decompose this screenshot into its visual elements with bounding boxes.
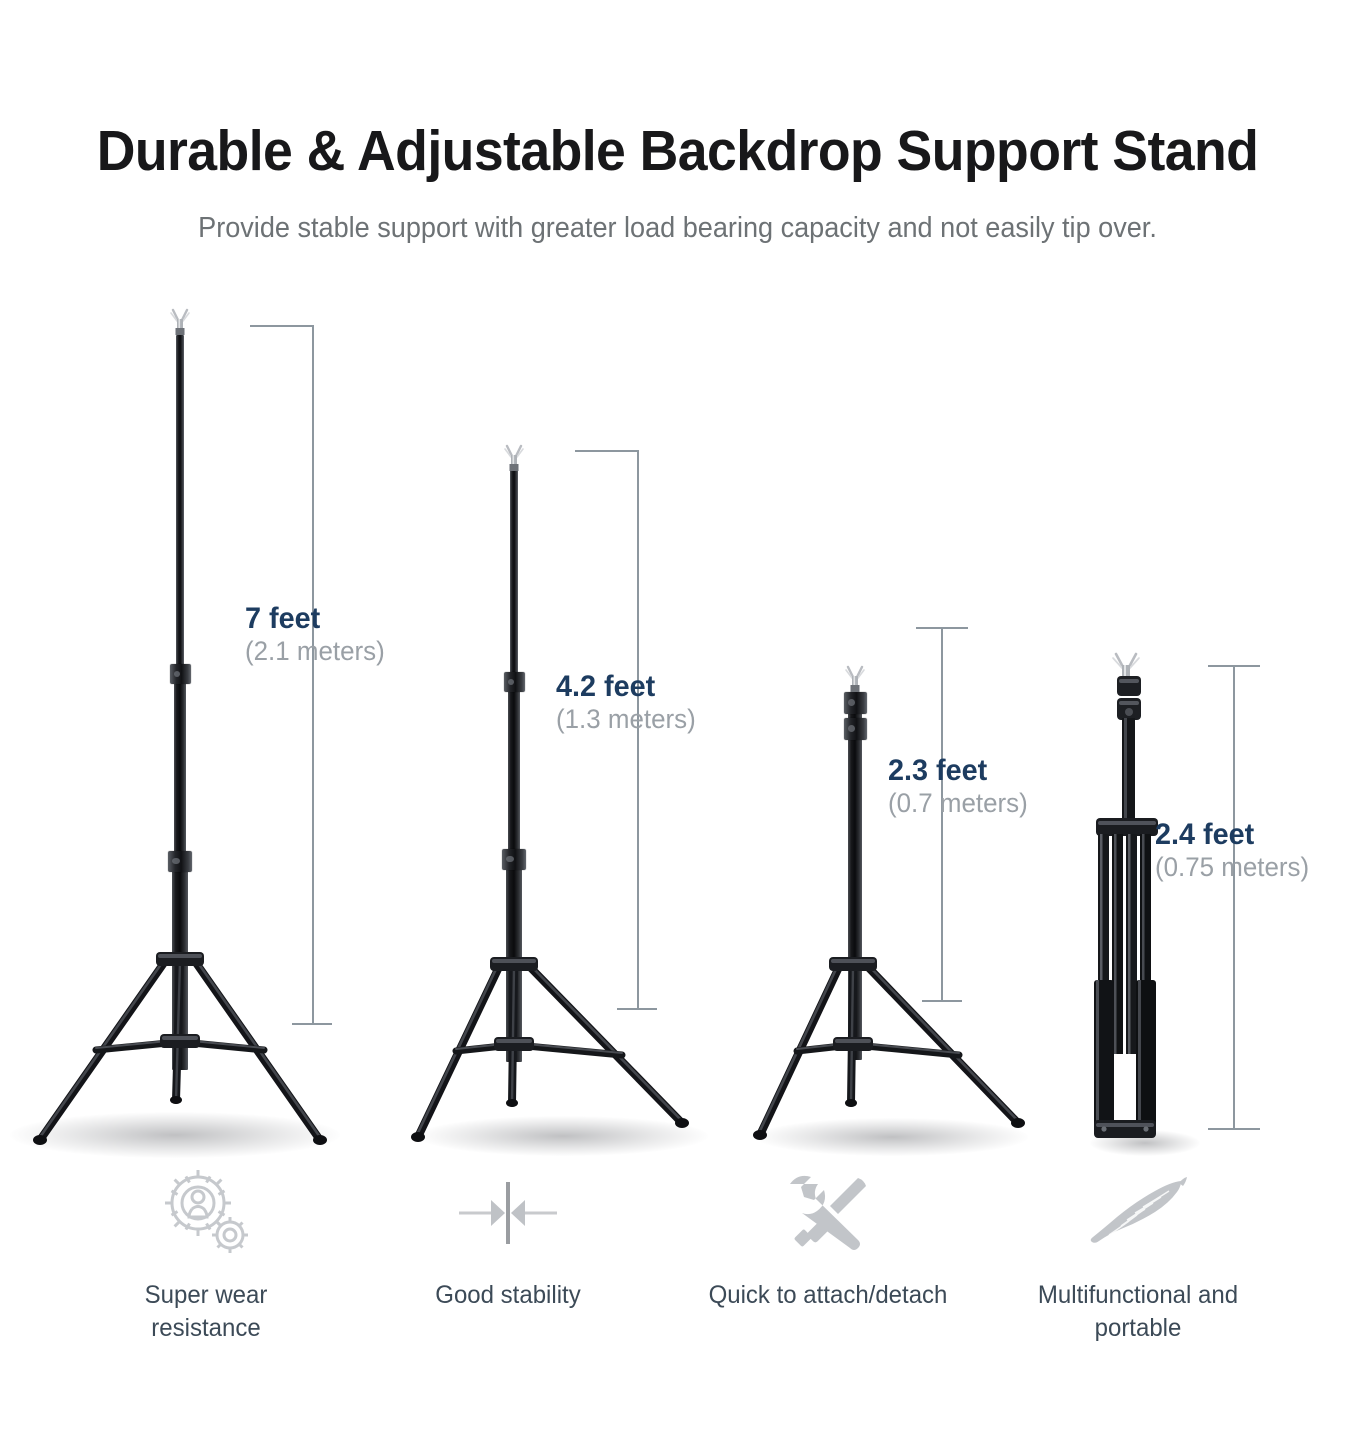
page-subtitle: Provide stable support with greater load…	[34, 212, 1321, 245]
measurement-meters: (2.1 meters)	[245, 636, 385, 667]
lock-collar-upper[interactable]	[504, 672, 525, 692]
measurement-feet: 4.2 feet	[556, 670, 696, 704]
page-title: Durable & Adjustable Backdrop Support St…	[41, 118, 1315, 184]
feature-quick-attach-detach: Quick to attach/detach	[678, 1165, 978, 1312]
dimension-cap-top	[250, 325, 314, 327]
upper-pole-section	[176, 335, 184, 680]
measurement-label-24ft: 2.4 feet (0.75 meters)	[1155, 818, 1316, 884]
infographic-page: Durable & Adjustable Backdrop Support St…	[0, 0, 1355, 1440]
measurement-label-42ft: 4.2 feet (1.3 meters)	[556, 670, 702, 736]
measurement-meters: (0.7 meters)	[888, 788, 1028, 819]
lock-collar-lower[interactable]	[844, 718, 867, 740]
feature-caption: Multifunctional andportable	[994, 1279, 1282, 1344]
measurement-feet: 2.4 feet	[1155, 818, 1309, 852]
feature-caption: Quick to attach/detach	[684, 1279, 972, 1312]
stand-full-height	[0, 305, 360, 1150]
measurement-feet: 2.3 feet	[888, 754, 1028, 788]
dimension-vertical-line	[1233, 665, 1235, 1130]
stand-folded	[1060, 630, 1350, 1150]
lock-collar-lower[interactable]	[502, 849, 526, 870]
feature-good-stability: Good stability	[358, 1165, 658, 1312]
stand-mid-height	[400, 440, 720, 1150]
wrench-screwdriver-icon	[678, 1165, 978, 1261]
lock-collar-upper[interactable]	[170, 664, 191, 684]
feature-list: Super wearresistance Good stability	[0, 1165, 1355, 1385]
measurement-meters: (1.3 meters)	[556, 704, 696, 735]
measurement-meters: (0.75 meters)	[1155, 852, 1309, 883]
tripod-legs	[740, 955, 1040, 1150]
measurement-label-7ft: 7 feet (2.1 meters)	[245, 602, 391, 668]
dimension-cap-bottom	[292, 1023, 332, 1025]
lock-collar-upper[interactable]	[844, 692, 867, 714]
dimension-vertical-line	[312, 325, 314, 1025]
dimension-cap-bottom	[922, 1000, 962, 1002]
stand-low-height	[740, 605, 1040, 1150]
middle-pole-section	[174, 670, 186, 865]
measurement-feet: 7 feet	[245, 602, 385, 636]
dimension-line-7ft	[250, 325, 314, 1025]
spigot-top-icon	[501, 444, 527, 474]
tripod-legs	[400, 955, 720, 1150]
dimension-cap-bottom	[1208, 1128, 1260, 1130]
feature-caption: Super wearresistance	[62, 1279, 350, 1344]
dimension-cap-top	[575, 450, 639, 452]
lock-collar-lower[interactable]	[168, 851, 192, 872]
gears-icon	[56, 1165, 356, 1261]
upper-pole-section	[510, 470, 518, 688]
feature-caption: Good stability	[364, 1279, 652, 1312]
feature-super-wear-resistance: Super wearresistance	[56, 1165, 356, 1344]
feature-multifunctional-portable: Multifunctional andportable	[988, 1165, 1288, 1344]
measurement-label-23ft: 2.3 feet (0.7 meters)	[888, 754, 1034, 820]
feather-icon	[988, 1165, 1288, 1261]
spigot-top-icon	[167, 308, 193, 338]
middle-pole-section	[508, 682, 520, 864]
stability-arrows-icon	[358, 1165, 658, 1261]
dimension-cap-bottom	[617, 1008, 657, 1010]
dimension-line-24ft	[1202, 665, 1266, 1130]
spigot-top-icon	[842, 665, 868, 695]
